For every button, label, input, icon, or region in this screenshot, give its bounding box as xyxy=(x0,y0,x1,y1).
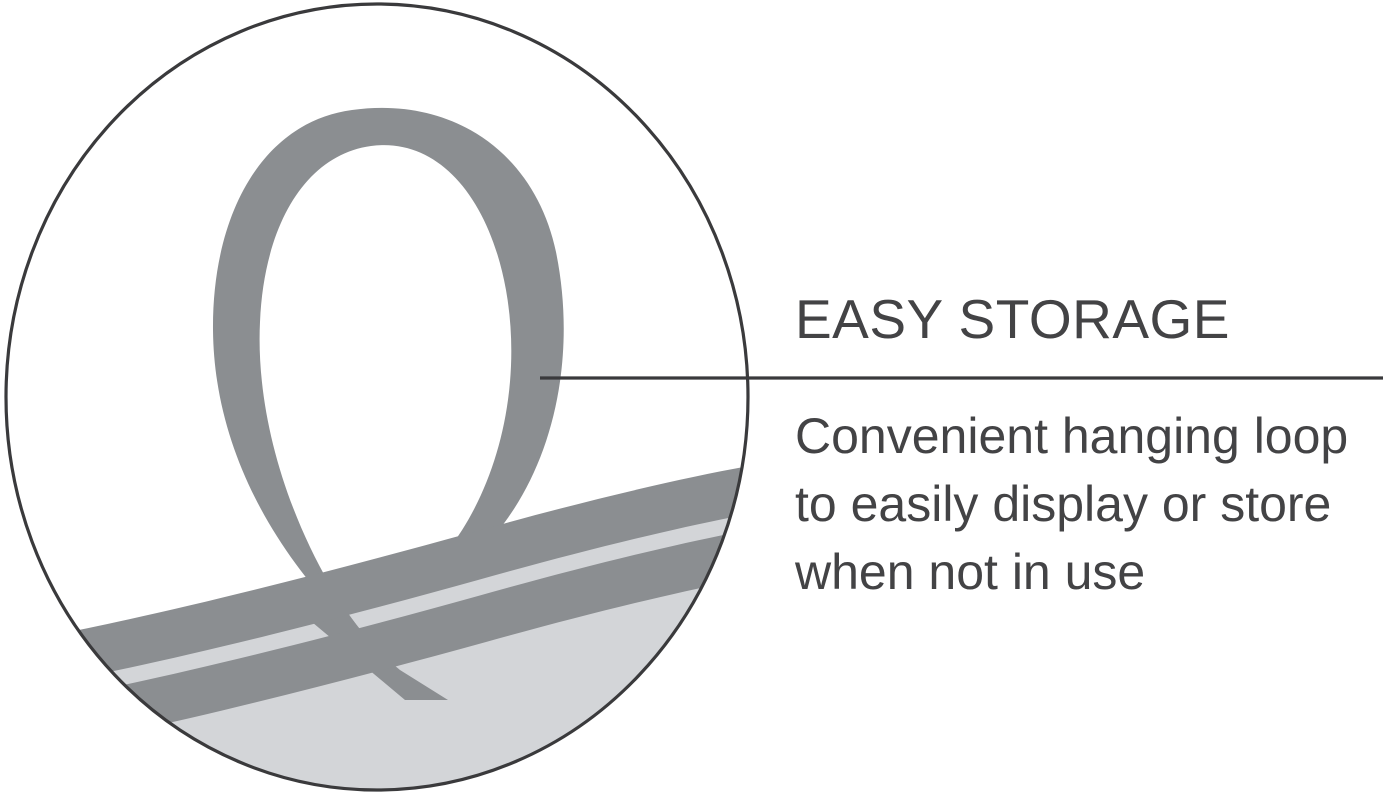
description-line-2: to easily display or store xyxy=(795,470,1375,538)
description-line-1: Convenient hanging loop xyxy=(795,402,1375,470)
page-title: EASY STORAGE xyxy=(795,289,1385,349)
description-line-3: when not in use xyxy=(795,538,1375,606)
callout-description: Convenient hanging loop to easily displa… xyxy=(795,402,1375,606)
feature-callout-panel: EASY STORAGE Convenient hanging loop to … xyxy=(0,0,1387,805)
callout-heading-block: EASY STORAGE xyxy=(795,289,1385,349)
